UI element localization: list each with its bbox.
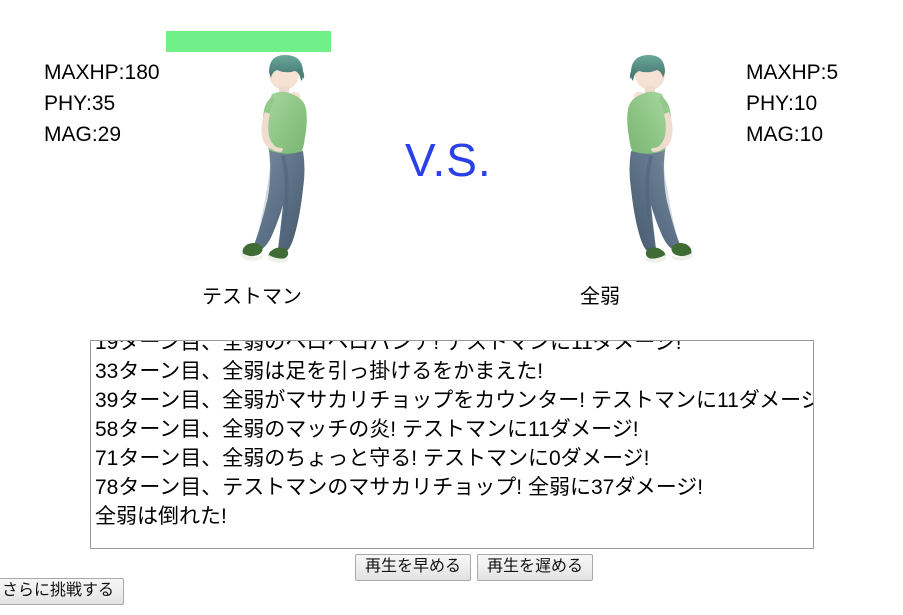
left-stat-maxhp: MAXHP:180 [44,57,160,88]
battle-log-box[interactable]: 19ターン目、全弱のヘロヘロパンチ! テストマンに11ダメージ! 33ターン目、… [90,340,814,549]
log-line: 33ターン目、全弱は足を引っ掛けるをかまえた! [95,357,809,386]
player-hp-bar-fill [166,31,331,52]
slow-down-button[interactable]: 再生を遅める [477,554,593,581]
left-fighter-stats: MAXHP:180 PHY:35 MAG:29 [44,57,160,150]
right-fighter-stats: MAXHP:5 PHY:10 MAG:10 [746,57,838,150]
right-stat-mag: MAG:10 [746,119,838,150]
retry-challenge-button[interactable]: さらに挑戦する [0,578,124,605]
retry-button-wrap: さらに挑戦する [0,578,124,605]
log-line: 78ターン目、テストマンのマサカリチョップ! 全弱に37ダメージ! [95,473,809,502]
player-hp-bar [166,31,331,52]
log-line: 39ターン目、全弱がマサカリチョップをカウンター! テストマンに11ダメージ! [95,386,809,415]
log-line: 71ターン目、全弱のちょっと守る! テストマンに0ダメージ! [95,444,809,473]
left-stat-phy: PHY:35 [44,88,160,119]
left-fighter-sprite [222,52,352,277]
versus-label: V.S. [405,133,492,187]
right-fighter-sprite [582,52,712,277]
playback-controls: 再生を早める 再生を遅める [355,554,593,581]
right-fighter-name: 全弱 [490,280,710,309]
speed-up-button[interactable]: 再生を早める [355,554,471,581]
right-stat-phy: PHY:10 [746,88,838,119]
log-line: 19ターン目、全弱のヘロヘロパンチ! テストマンに11ダメージ! [95,340,809,357]
log-line: 全弱は倒れた! [95,502,809,531]
left-stat-mag: MAG:29 [44,119,160,150]
right-stat-maxhp: MAXHP:5 [746,57,838,88]
log-line: 58ターン目、全弱のマッチの炎! テストマンに11ダメージ! [95,415,809,444]
battle-log-content: 19ターン目、全弱のヘロヘロパンチ! テストマンに11ダメージ! 33ターン目、… [91,340,813,531]
left-fighter-name: テストマン [142,280,362,309]
